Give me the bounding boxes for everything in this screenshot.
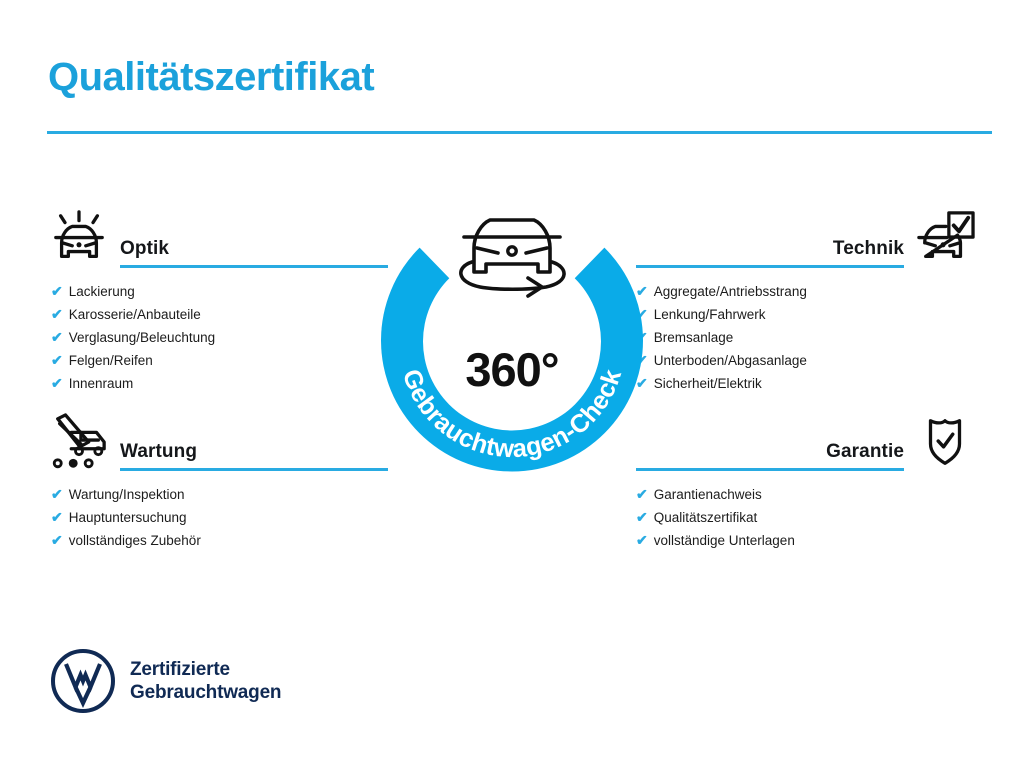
list-item-label: Verglasung/Beleuchtung [69,326,215,349]
section-underline-technik [636,265,904,268]
list-item-label: vollständige Unterlagen [654,529,795,552]
check-icon: ✔ [51,372,63,395]
check-icon: ✔ [636,483,648,506]
check-icon: ✔ [51,506,63,529]
list-item: ✔Unterboden/Abgasanlage [636,349,976,372]
volkswagen-wordmark: Zertifizierte Gebrauchtwagen [130,658,281,704]
list-item: ✔Verglasung/Beleuchtung [51,326,388,349]
shield-check-icon [914,413,976,471]
list-item-label: Innenraum [69,372,134,395]
vw-line-1: Zertifizierte [130,658,281,681]
vw-line-2: Gebrauchtwagen [130,681,281,704]
list-item-label: Garantienachweis [654,483,762,506]
list-item-label: Felgen/Reifen [69,349,153,372]
badge-360-gebrauchtwagen-check: Gebrauchtwagen-Check 360° [372,192,652,484]
list-item: ✔Karosserie/Anbauteile [51,303,388,326]
section-title-wartung: Wartung [120,441,388,468]
list-item: ✔Lenkung/Fahrwerk [636,303,976,326]
list-item: ✔Qualitätszertifikat [636,506,976,529]
check-icon: ✔ [51,349,63,372]
checklist-technik: ✔Aggregate/Antriebsstrang ✔Lenkung/Fahrw… [636,268,976,395]
list-item-label: Karosserie/Anbauteile [69,303,201,326]
car-checkbox-icon [914,210,976,268]
list-item: ✔vollständiges Zubehör [51,529,388,552]
car-rotate-icon [461,220,564,296]
check-icon: ✔ [51,483,63,506]
car-shine-icon [48,210,110,268]
badge-center-label: 360° [372,342,652,397]
checklist-garantie: ✔Garantienachweis ✔Qualitätszertifikat ✔… [636,471,976,552]
list-item: ✔Aggregate/Antriebsstrang [636,280,976,303]
list-item-label: Qualitätszertifikat [654,506,758,529]
check-icon: ✔ [636,529,648,552]
checklist-optik: ✔Lackierung ✔Karosserie/Anbauteile ✔Verg… [48,268,388,395]
check-icon: ✔ [51,303,63,326]
section-wartung: Wartung ✔Wartung/Inspektion ✔Hauptunters… [48,409,388,552]
check-icon: ✔ [51,280,63,303]
list-item-label: Lackierung [69,280,135,303]
section-technik: Technik ✔Aggregate/Antriebsstrang ✔Lenku… [636,206,976,395]
check-icon: ✔ [51,326,63,349]
list-item: ✔Sicherheit/Elektrik [636,372,976,395]
section-underline-garantie [636,468,904,471]
list-item-label: Bremsanlage [654,326,734,349]
list-item-label: Hauptuntersuchung [69,506,187,529]
section-optik: Optik ✔Lackierung ✔Karosserie/Anbauteile… [48,206,388,395]
list-item-label: Wartung/Inspektion [69,483,185,506]
list-item-label: Sicherheit/Elektrik [654,372,762,395]
checklist-wartung: ✔Wartung/Inspektion ✔Hauptuntersuchung ✔… [48,471,388,552]
section-garantie: Garantie ✔Garantienachweis ✔Qualitätszer… [636,409,976,552]
volkswagen-logo [50,648,116,714]
list-item: ✔Garantienachweis [636,483,976,506]
list-item: ✔Bremsanlage [636,326,976,349]
list-item: ✔vollständige Unterlagen [636,529,976,552]
list-item: ✔Felgen/Reifen [51,349,388,372]
page-title: Qualitätszertifikat [48,55,374,99]
section-underline-optik [120,265,388,268]
list-item-label: Aggregate/Antriebsstrang [654,280,807,303]
volkswagen-brand-block: Zertifizierte Gebrauchtwagen [50,648,281,714]
check-icon: ✔ [51,529,63,552]
list-item: ✔Lackierung [51,280,388,303]
car-service-pencil-icon [48,413,110,471]
section-title-optik: Optik [120,238,388,265]
list-item: ✔Hauptuntersuchung [51,506,388,529]
check-icon: ✔ [636,506,648,529]
section-title-garantie: Garantie [636,441,904,468]
list-item-label: Lenkung/Fahrwerk [654,303,766,326]
list-item: ✔Innenraum [51,372,388,395]
section-underline-wartung [120,468,388,471]
list-item: ✔Wartung/Inspektion [51,483,388,506]
list-item-label: Unterboden/Abgasanlage [654,349,807,372]
list-item-label: vollständiges Zubehör [69,529,201,552]
section-title-technik: Technik [636,238,904,265]
header-divider [47,131,992,134]
